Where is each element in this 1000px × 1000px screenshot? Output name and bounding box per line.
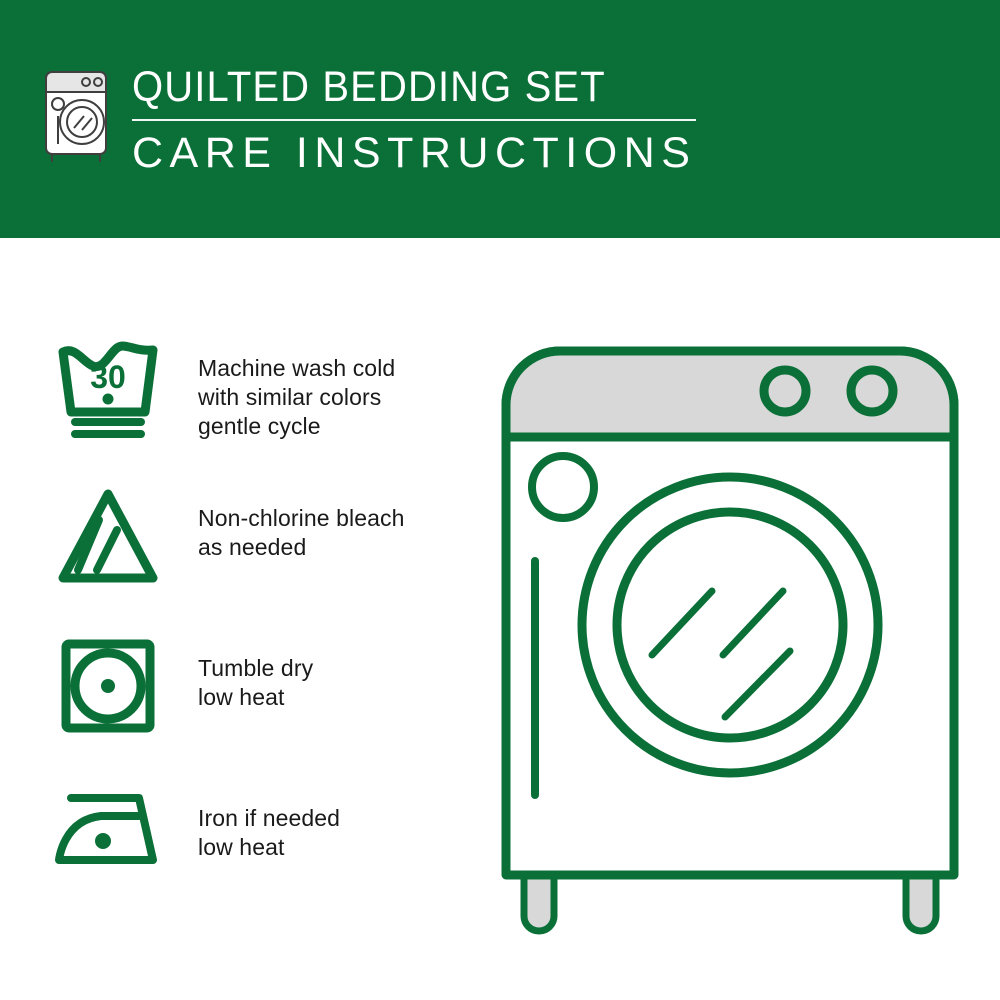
title-divider: [132, 119, 696, 121]
care-label-iron: Iron if needed low heat: [168, 780, 340, 862]
wash-temperature-value: 30: [90, 359, 126, 395]
care-row-iron: Iron if needed low heat: [48, 780, 478, 930]
wash-tub-30-gentle-icon: 30: [48, 330, 168, 440]
care-label-line: low heat: [198, 833, 340, 862]
care-instructions-infographic: QUILTED BEDDING SET CARE INSTRUCTIONS 30…: [0, 0, 1000, 1000]
care-instruction-list: 30 Machine wash cold with similar colors…: [48, 330, 478, 930]
bleach-triangle-non-chlorine-icon: [48, 480, 168, 586]
washing-machine-icon: [42, 66, 114, 168]
care-row-wash: 30 Machine wash cold with similar colors…: [48, 330, 478, 480]
care-label-line: low heat: [198, 683, 313, 712]
care-label-line: Iron if needed: [198, 804, 340, 833]
care-label-line: with similar colors: [198, 383, 395, 412]
tumble-dry-low-heat-icon: [48, 630, 168, 736]
care-label-bleach: Non-chlorine bleach as needed: [168, 480, 404, 562]
care-label-line: gentle cycle: [198, 412, 395, 441]
care-label-line: as needed: [198, 533, 404, 562]
care-label-line: Non-chlorine bleach: [198, 504, 404, 533]
care-label-tumble-dry: Tumble dry low heat: [168, 630, 313, 712]
large-washing-machine-illustration: [480, 325, 980, 945]
care-label-line: Tumble dry: [198, 654, 313, 683]
header-content: QUILTED BEDDING SET CARE INSTRUCTIONS: [42, 62, 696, 179]
care-row-tumble-dry: Tumble dry low heat: [48, 630, 478, 780]
care-label-line: Machine wash cold: [198, 354, 395, 383]
iron-low-heat-icon: [48, 780, 168, 870]
title-block: QUILTED BEDDING SET CARE INSTRUCTIONS: [132, 62, 696, 179]
page-subtitle: CARE INSTRUCTIONS: [132, 127, 696, 179]
page-title: QUILTED BEDDING SET: [132, 62, 657, 112]
care-row-bleach: Non-chlorine bleach as needed: [48, 480, 478, 630]
care-label-wash: Machine wash cold with similar colors ge…: [168, 330, 395, 441]
header-banner: QUILTED BEDDING SET CARE INSTRUCTIONS: [0, 0, 1000, 238]
